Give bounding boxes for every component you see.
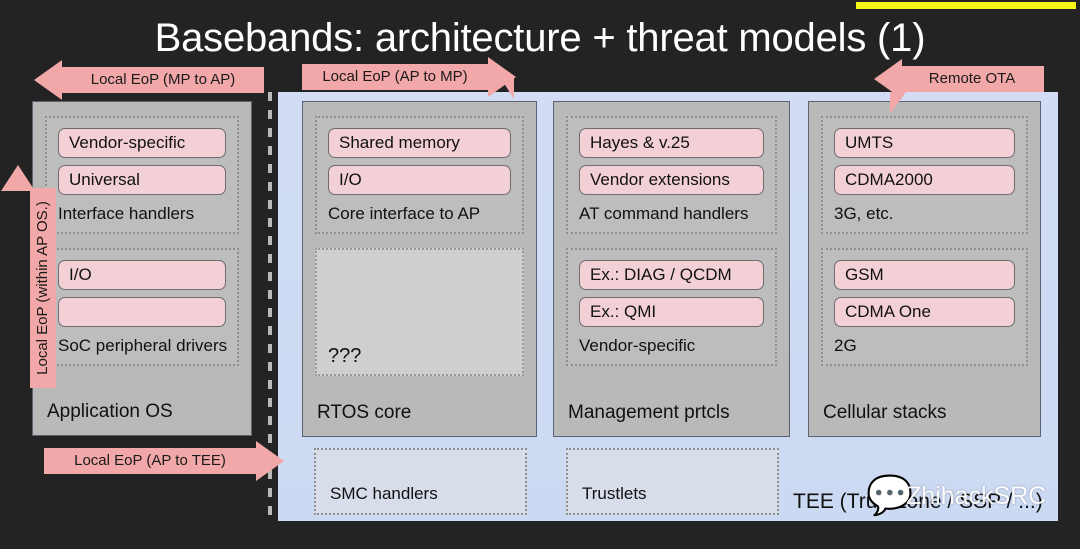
arrow-label-remote-ota: Remote OTA bbox=[900, 66, 1044, 92]
chip-umts: UMTS bbox=[834, 128, 1015, 158]
group-soc-peripheral-drivers: I/O SoC peripheral drivers bbox=[45, 248, 239, 366]
arrow-label-mp-to-ap: Local EoP (MP to AP) bbox=[62, 67, 264, 93]
column-cellular-stacks: UMTS CDMA2000 3G, etc. GSM CDMA One 2G C… bbox=[808, 101, 1041, 437]
column-application-os: Vendor-specific Universal Interface hand… bbox=[32, 101, 252, 436]
arrow-head-mp-to-ap-icon bbox=[34, 60, 62, 100]
chip-shared-memory: Shared memory bbox=[328, 128, 511, 158]
group-core-interface-to-ap: Shared memory I/O Core interface to AP bbox=[315, 116, 524, 234]
chip-vendor-specific: Vendor-specific bbox=[58, 128, 226, 158]
group-2g: GSM CDMA One 2G bbox=[821, 248, 1028, 366]
caption-interface-handlers: Interface handlers bbox=[58, 202, 226, 224]
page-title: Basebands: architecture + threat models … bbox=[0, 16, 1080, 61]
arrow-tail-remote-ota-icon bbox=[890, 92, 906, 114]
group-at-command-handlers: Hayes & v.25 Vendor extensions AT comman… bbox=[566, 116, 777, 234]
caption-at-command-handlers: AT command handlers bbox=[579, 202, 764, 224]
caption-vendor-specific: Vendor-specific bbox=[579, 334, 764, 356]
arrow-tail-ap-to-mp-icon bbox=[500, 77, 514, 99]
caption-2g: 2G bbox=[834, 334, 1015, 356]
chip-universal: Universal bbox=[58, 165, 226, 195]
column-rtos-core: Shared memory I/O Core interface to AP ?… bbox=[302, 101, 537, 437]
chip-io: I/O bbox=[328, 165, 511, 195]
group-unknown: ??? bbox=[315, 248, 524, 376]
caption-core-interface-to-ap: Core interface to AP bbox=[328, 202, 511, 224]
progress-bar-track bbox=[0, 0, 1080, 10]
arrow-head-ap-to-tee-icon bbox=[256, 441, 284, 481]
column-title-cellular-stacks: Cellular stacks bbox=[823, 402, 947, 424]
chip-vendor-extensions: Vendor extensions bbox=[579, 165, 764, 195]
chip-hayes-v25: Hayes & v.25 bbox=[579, 128, 764, 158]
tee-box-label-trustlets: Trustlets bbox=[582, 484, 647, 504]
chip-diag-qcdm: Ex.: DIAG / QCDM bbox=[579, 260, 764, 290]
tee-box-label-smc-handlers: SMC handlers bbox=[330, 484, 438, 504]
column-title-rtos-core: RTOS core bbox=[317, 402, 411, 424]
chip-unlabeled bbox=[58, 297, 226, 327]
arrow-label-ap-to-tee: Local EoP (AP to TEE) bbox=[44, 448, 256, 474]
arrow-label-within-ap-os: Local EoP (within AP OS.) bbox=[30, 188, 56, 388]
chip-io: I/O bbox=[58, 260, 226, 290]
tee-caption: TEE (TrustZone / SSP / ...) bbox=[793, 490, 1043, 514]
progress-bar-fill bbox=[856, 2, 1076, 9]
tee-box-trustlets: Trustlets bbox=[566, 448, 779, 515]
group-vendor-specific: Ex.: DIAG / QCDM Ex.: QMI Vendor-specifi… bbox=[566, 248, 777, 366]
chip-cdma2000: CDMA2000 bbox=[834, 165, 1015, 195]
caption-unknown: ??? bbox=[328, 345, 361, 368]
tee-box-smc-handlers: SMC handlers bbox=[314, 448, 527, 515]
column-title-management-protocols: Management prtcls bbox=[568, 402, 730, 424]
column-title-application-os: Application OS bbox=[47, 401, 173, 423]
arrow-label-ap-to-mp: Local EoP (AP to MP) bbox=[302, 64, 488, 90]
chip-cdma-one: CDMA One bbox=[834, 297, 1015, 327]
chip-gsm: GSM bbox=[834, 260, 1015, 290]
caption-soc-peripheral-drivers: SoC peripheral drivers bbox=[58, 334, 226, 356]
chip-qmi: Ex.: QMI bbox=[579, 297, 764, 327]
group-interface-handlers: Vendor-specific Universal Interface hand… bbox=[45, 116, 239, 234]
caption-3g: 3G, etc. bbox=[834, 202, 1015, 224]
column-management-protocols: Hayes & v.25 Vendor extensions AT comman… bbox=[553, 101, 790, 437]
group-3g: UMTS CDMA2000 3G, etc. bbox=[821, 116, 1028, 234]
